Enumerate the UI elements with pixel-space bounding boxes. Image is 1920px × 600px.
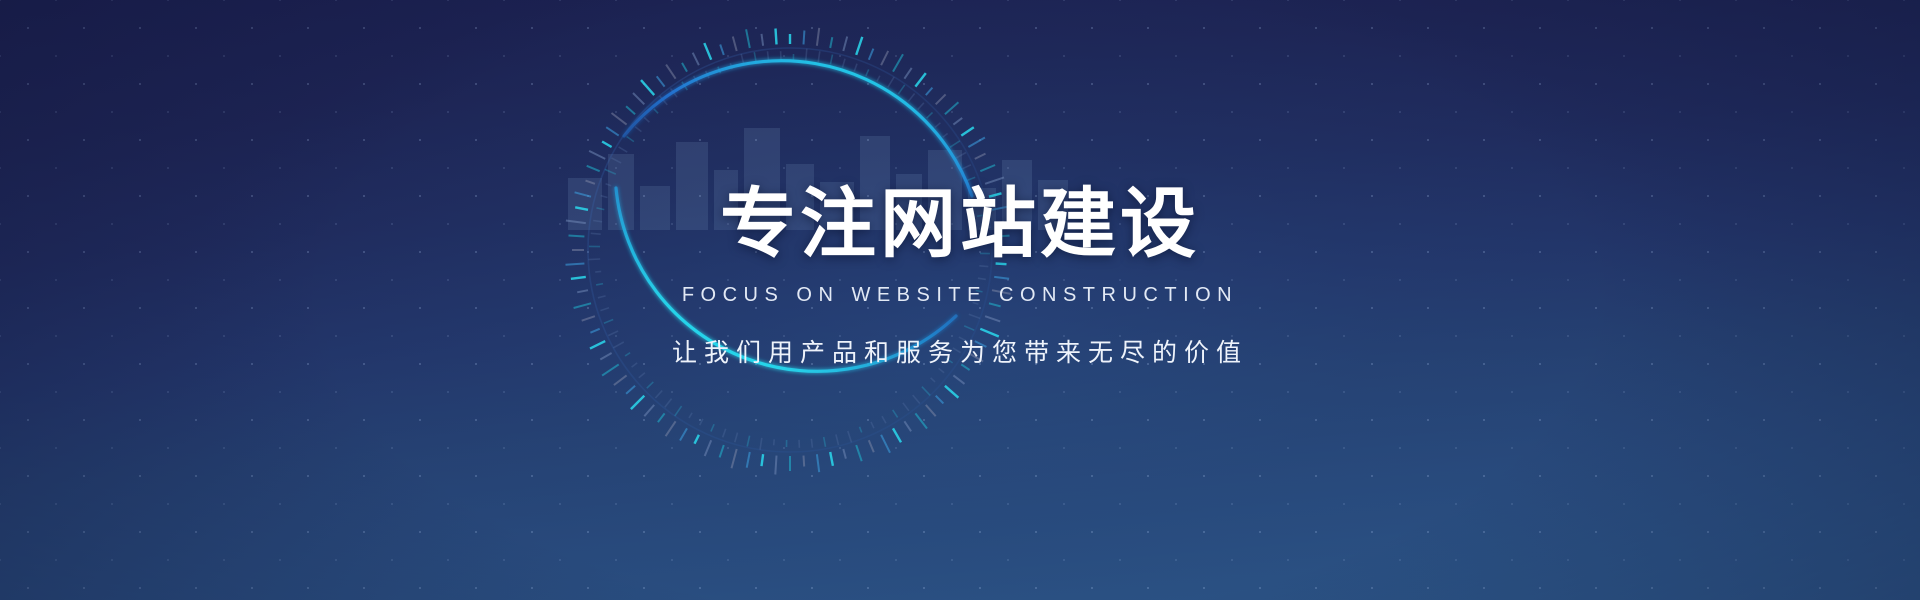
tagline-chinese: 让我们用产品和服务为您带来无尽的价值 (0, 333, 1920, 369)
page-title: 专注网站建设 (0, 186, 1920, 262)
hero-text-block: 专注网站建设 FOCUS ON WEBSITE CONSTRUCTION 让我们… (0, 186, 1920, 369)
hero-banner: 专注网站建设 FOCUS ON WEBSITE CONSTRUCTION 让我们… (0, 0, 1920, 600)
subtitle-english: FOCUS ON WEBSITE CONSTRUCTION (0, 284, 1920, 307)
